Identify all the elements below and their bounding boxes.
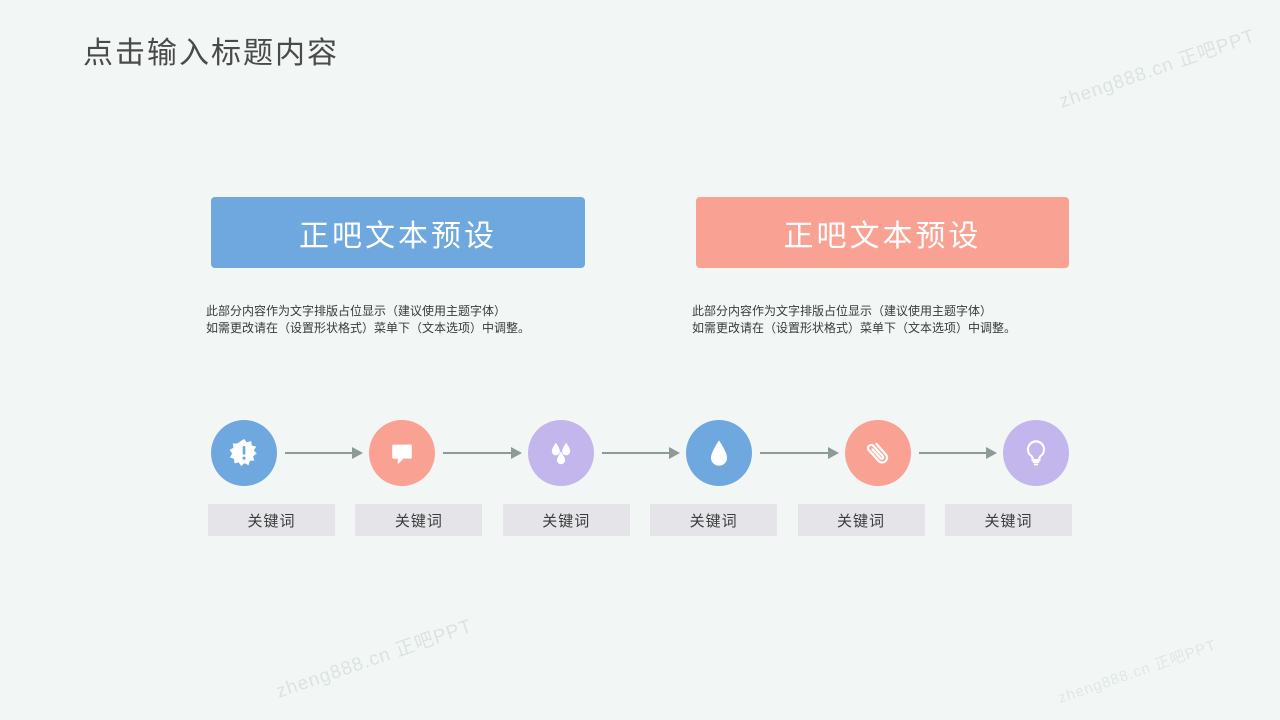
process-node-1[interactable] [211, 420, 277, 486]
arrow-head-icon [986, 447, 997, 459]
caption-left: 此部分内容作为文字排版占位显示（建议使用主题字体） 如需更改请在（设置形状格式）… [206, 303, 530, 337]
caption-left-line1: 此部分内容作为文字排版占位显示（建议使用主题字体） [206, 304, 506, 318]
keyword-chip-3[interactable]: 关键词 [503, 504, 630, 536]
caption-right-line1: 此部分内容作为文字排版占位显示（建议使用主题字体） [692, 304, 992, 318]
paperclip-icon [863, 438, 893, 468]
page-title: 点击输入标题内容 [83, 28, 339, 72]
keyword-row: 关键词 关键词 关键词 关键词 关键词 关键词 [208, 504, 1072, 536]
speech-bubble-icon [387, 438, 417, 468]
process-node-5[interactable] [845, 420, 911, 486]
caption-right-line2: 如需更改请在（设置形状格式）菜单下（文本选项）中调整。 [692, 320, 1016, 337]
arrow-shaft [919, 452, 987, 454]
process-circle-6[interactable] [1003, 420, 1069, 486]
process-arrow-1 [277, 447, 369, 459]
arrow-head-icon [828, 447, 839, 459]
banner-blue[interactable]: 正吧文本预设 [211, 197, 585, 268]
arrow-shaft [760, 452, 828, 454]
lightbulb-icon [1021, 438, 1051, 468]
process-arrow-3 [594, 447, 686, 459]
process-node-6[interactable] [1003, 420, 1069, 486]
process-node-4[interactable] [686, 420, 752, 486]
process-node-3[interactable] [528, 420, 594, 486]
process-circle-5[interactable] [845, 420, 911, 486]
three-droplets-icon [546, 438, 576, 468]
process-node-2[interactable] [369, 420, 435, 486]
arrow-shaft [602, 452, 670, 454]
banner-pink[interactable]: 正吧文本预设 [696, 197, 1069, 268]
arrow-head-icon [352, 447, 363, 459]
process-arrow-2 [435, 447, 527, 459]
burst-exclamation-icon [229, 438, 259, 468]
watermark: zheng888.cn 正吧PPT [1055, 634, 1219, 708]
process-arrow-5 [911, 447, 1003, 459]
watermark: zheng888.cn 正吧PPT [1055, 21, 1259, 114]
keyword-chip-5[interactable]: 关键词 [798, 504, 925, 536]
process-circle-3[interactable] [528, 420, 594, 486]
arrow-head-icon [669, 447, 680, 459]
droplet-icon [704, 438, 734, 468]
caption-right: 此部分内容作为文字排版占位显示（建议使用主题字体） 如需更改请在（设置形状格式）… [692, 303, 1016, 337]
arrow-shaft [285, 452, 353, 454]
watermark: zheng888.cn 正吧PPT [272, 611, 476, 704]
caption-left-line2: 如需更改请在（设置形状格式）菜单下（文本选项）中调整。 [206, 320, 530, 337]
process-circle-4[interactable] [686, 420, 752, 486]
keyword-chip-2[interactable]: 关键词 [355, 504, 482, 536]
keyword-chip-1[interactable]: 关键词 [208, 504, 335, 536]
keyword-chip-4[interactable]: 关键词 [650, 504, 777, 536]
slide-canvas: 点击输入标题内容 zheng888.cn 正吧PPT zheng888.cn 正… [0, 0, 1280, 720]
process-circle-1[interactable] [211, 420, 277, 486]
process-arrow-4 [752, 447, 844, 459]
arrow-head-icon [511, 447, 522, 459]
keyword-chip-6[interactable]: 关键词 [945, 504, 1072, 536]
process-circle-2[interactable] [369, 420, 435, 486]
arrow-shaft [443, 452, 511, 454]
process-flow [211, 420, 1069, 486]
